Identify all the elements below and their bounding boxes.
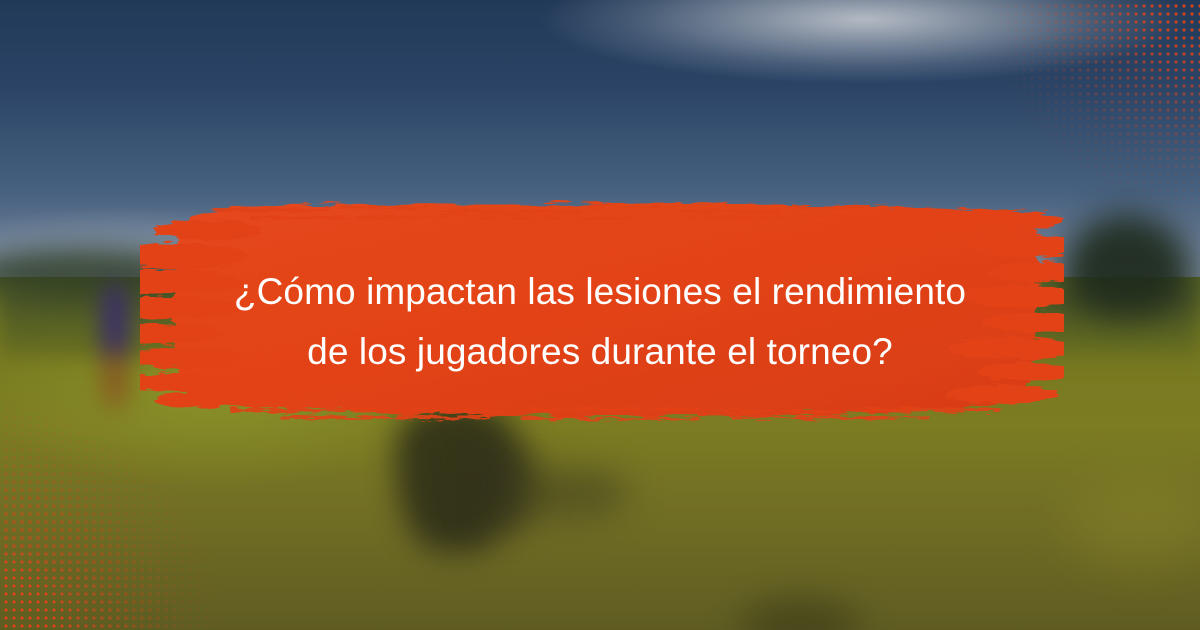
share-card: ¿Cómo impactan las lesiones el rendimien… [0,0,1200,630]
blurred-player-left-legs [102,352,128,408]
page-title: ¿Cómo impactan las lesiones el rendimien… [150,262,1050,382]
ground-shadow [520,470,630,516]
